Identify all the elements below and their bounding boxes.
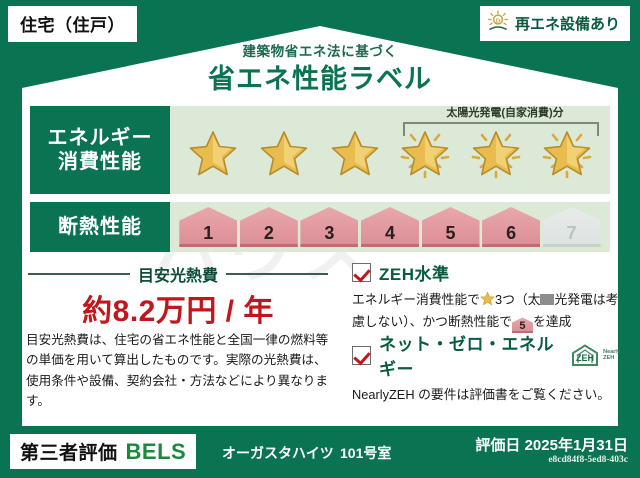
star-5 <box>465 119 527 181</box>
insulation-performance-label: 断熱性能 <box>30 202 170 252</box>
star-rating <box>170 106 610 194</box>
grade-value: 2 <box>264 223 274 244</box>
star-1 <box>182 119 244 181</box>
grade-value: 4 <box>385 223 395 244</box>
grade-value: 3 <box>324 223 334 244</box>
property-name: オーガスタハイツ <box>222 443 334 463</box>
star-3 <box>324 119 386 181</box>
net-zero-energy-body: NearlyZEH の要件は評価書をご覧ください。 <box>352 385 620 405</box>
dwelling-type-tag: 住宅（住戸） <box>8 6 137 42</box>
room-number: 101号室 <box>340 443 391 463</box>
evaluation-date: 評価日 2025年1月31日 <box>475 434 628 455</box>
insulation-grade-5: 5 <box>422 207 480 247</box>
zeh-standard-title: ZEH水準 <box>379 260 450 285</box>
net-zero-energy-header: ネット・ゼロ・エネルギー ZEH Nearly ZEH <box>352 330 620 380</box>
bels-en-label: BELS <box>126 439 187 465</box>
rule-left <box>28 273 130 275</box>
insulation-grade-3: 3 <box>300 207 358 247</box>
insulation-performance-row: 断熱性能 1234567 <box>30 202 610 252</box>
renewable-badge-label: 再エネ設備あり <box>515 13 620 34</box>
insulation-grade-panel: 1234567 <box>170 202 610 252</box>
energy-performance-row: エネルギー 消費性能 太陽光発電(自家消費)分 <box>30 106 610 194</box>
utility-cost-heading: 目安光熱費 <box>28 262 328 286</box>
bels-certification-tag: 第三者評価 BELS <box>10 434 196 469</box>
zeh-logo-nearly-text: Nearly ZEH <box>603 349 620 361</box>
zeh-house-logo: ZEH Nearly ZEH <box>569 343 620 367</box>
zeh-body-part3: 光発電 <box>554 292 592 307</box>
renewable-energy-badge: D 再エネ設備あり <box>480 6 630 41</box>
zeh-standard-block: ZEH水準 エネルギー消費性能で 3つ（太光発電は考慮しない）、かつ断熱性能で5… <box>352 260 620 333</box>
insulation-grade-4: 4 <box>361 207 419 247</box>
zeh-body-part2: 3つ（太 <box>495 292 541 307</box>
redacted-block <box>540 294 554 305</box>
zeh-body-part5: を達成 <box>533 314 571 329</box>
solar-sun-icon: D <box>486 10 510 37</box>
check-icon <box>352 263 371 282</box>
energy-star-panel: 太陽光発電(自家消費)分 <box>170 106 610 194</box>
star-2 <box>253 119 315 181</box>
nearly-line2: ZEH <box>603 355 614 361</box>
rule-right <box>226 273 328 275</box>
insulation-grade-scale: 1234567 <box>170 202 610 252</box>
energy-label-line1: エネルギー <box>48 126 153 150</box>
zeh-standard-body: エネルギー消費性能で 3つ（太光発電は考慮しない）、かつ断熱性能で5を達成 <box>352 290 620 333</box>
energy-label-line2: 消費性能 <box>58 150 142 174</box>
grade-value: 5 <box>446 223 456 244</box>
zeh-standard-header: ZEH水準 <box>352 260 620 285</box>
insulation-grade-1: 1 <box>179 207 237 247</box>
utility-cost-heading-text: 目安光熱費 <box>138 262 218 286</box>
bels-jp-label: 第三者評価 <box>20 438 118 465</box>
utility-cost-value: 約8.2万円 / 年 <box>28 286 328 330</box>
star-6 <box>536 119 598 181</box>
net-zero-energy-block: ネット・ゼロ・エネルギー ZEH Nearly ZEH NearlyZEH の要… <box>352 330 620 405</box>
utility-cost-note: 目安光熱費は、住宅の省エネ性能と全国一律の燃料等の単価を用いて算出したものです。… <box>26 330 336 412</box>
svg-text:ZEH: ZEH <box>576 353 594 363</box>
grade-value: 6 <box>506 223 516 244</box>
energy-performance-label: エネルギー 消費性能 <box>30 106 170 194</box>
evaluation-id: e8cd84f8-5ed8-403c <box>548 455 628 465</box>
svg-text:D: D <box>496 18 501 25</box>
insulation-grade-2: 2 <box>240 207 298 247</box>
zeh-body-part1: エネルギー消費性能で <box>352 292 480 307</box>
grade-value: 1 <box>203 223 213 244</box>
footer-bar: 第三者評価 BELS オーガスタハイツ 101号室 評価日 2025年1月31日… <box>0 426 640 478</box>
check-icon <box>352 346 371 365</box>
insulation-grade-6: 6 <box>482 207 540 247</box>
insulation-label-text: 断熱性能 <box>58 215 142 239</box>
star-4 <box>394 119 456 181</box>
grade-value: 7 <box>567 223 577 244</box>
page-title: 省エネ性能ラベル <box>0 57 640 96</box>
insulation-grade-7: 7 <box>543 207 601 247</box>
net-zero-energy-title: ネット・ゼロ・エネルギー <box>379 330 561 380</box>
inline-star-icon <box>480 291 495 312</box>
